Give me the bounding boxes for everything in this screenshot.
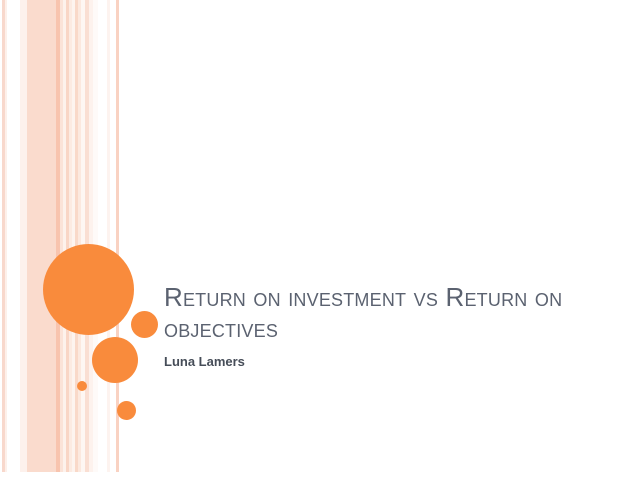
decorative-stripe-band xyxy=(0,0,130,472)
author-subtitle: Luna Lamers xyxy=(164,344,594,371)
stripe-5 xyxy=(27,0,56,472)
stripe-18 xyxy=(98,0,107,472)
stripe-3 xyxy=(7,0,20,472)
page-title: Return on investment vs Return on object… xyxy=(164,282,594,344)
stripe-4 xyxy=(20,0,27,472)
circle-small xyxy=(131,311,158,338)
presentation-slide: Return on investment vs Return on object… xyxy=(0,0,638,479)
stripe-22 xyxy=(119,0,130,472)
title-block: Return on investment vs Return on object… xyxy=(164,282,594,371)
